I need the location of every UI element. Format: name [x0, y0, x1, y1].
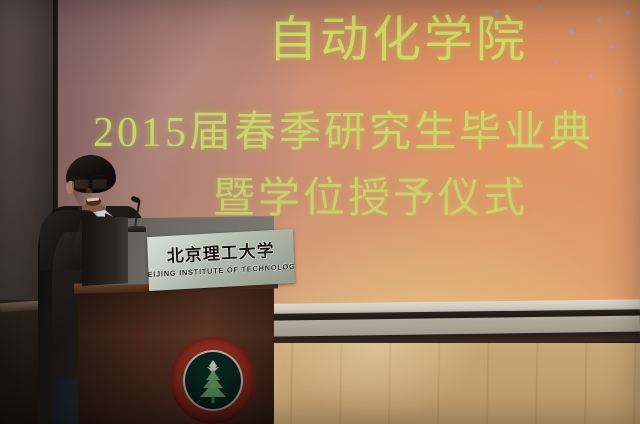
microphone-base	[128, 226, 146, 232]
slide-subtitle-line-1: 2015届春季研究生毕业典	[93, 108, 594, 158]
speaker-eyebrow-right	[93, 175, 105, 177]
speaker-glasses-bridge	[88, 183, 93, 184]
podium-banner: 北京理工大学 BEIJING INSTITUTE OF TECHNOLOGY	[147, 229, 295, 291]
speaker-nose	[86, 188, 92, 197]
slide-title: 自动化学院	[268, 12, 528, 68]
photograph-scene: 自动化学院 2015届春季研究生毕业典 暨学位授予仪式	[0, 0, 640, 424]
emblem-shading	[170, 337, 256, 424]
podium-top-side	[82, 216, 128, 286]
university-emblem	[170, 337, 256, 424]
floor-light-reflection	[280, 343, 480, 424]
speaker-glasses-right-lens	[92, 179, 107, 189]
speaker-eyebrow-left	[75, 176, 87, 178]
speaker-chin-shadow	[78, 204, 106, 212]
